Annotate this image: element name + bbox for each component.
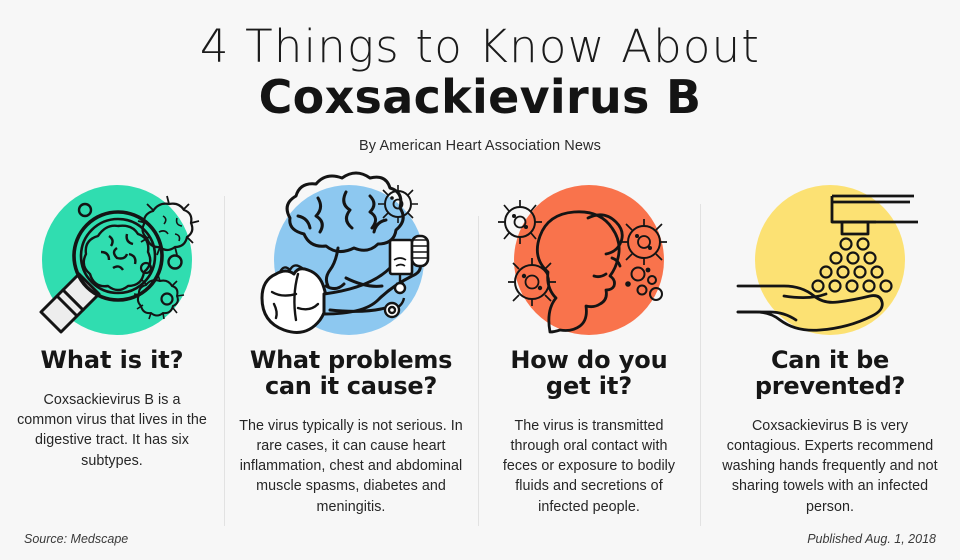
source-label: Source: Medscape [24, 532, 128, 546]
byline: By American Heart Association News [0, 138, 960, 154]
handwashing-soap-icon [716, 182, 944, 342]
card-heading: What is it? [14, 348, 210, 374]
footer: Source: Medscape Published Aug. 1, 2018 [0, 532, 960, 546]
magnifying-glass-virus-icon [14, 182, 210, 342]
card-body: The virus typically is not serious. In r… [236, 416, 466, 517]
card-body: Coxsackievirus B is very contagious. Exp… [716, 416, 944, 517]
card-heading: How do you get it? [492, 348, 686, 400]
card-what-problems-can-it-cause: What problems can it cause? The virus ty… [224, 182, 478, 517]
card-body: The virus is transmitted through oral co… [492, 416, 686, 517]
infographic-root: 4 Things to Know About Coxsackievirus B … [0, 0, 960, 560]
card-heading: What problems can it cause? [236, 348, 466, 400]
published-date: Published Aug. 1, 2018 [807, 532, 936, 546]
head-profile-virus-icon [492, 182, 686, 342]
card-body: Coxsackievirus B is a common virus that … [14, 390, 210, 471]
card-heading: Can it be prevented? [716, 348, 944, 400]
columns-container: What is it? Coxsackievirus B is a common… [0, 182, 960, 517]
page-title-line-2: Coxsackievirus B [0, 70, 960, 124]
card-what-is-it: What is it? Coxsackievirus B is a common… [0, 182, 224, 471]
page-title-line-1: 4 Things to Know About [0, 22, 960, 72]
card-can-it-be-prevented: Can it be prevented? Coxsackievirus B is… [700, 182, 960, 517]
header: 4 Things to Know About Coxsackievirus B … [0, 0, 960, 154]
card-how-do-you-get-it: How do you get it? The virus is transmit… [478, 182, 700, 517]
brain-heart-arm-icon [236, 182, 466, 342]
